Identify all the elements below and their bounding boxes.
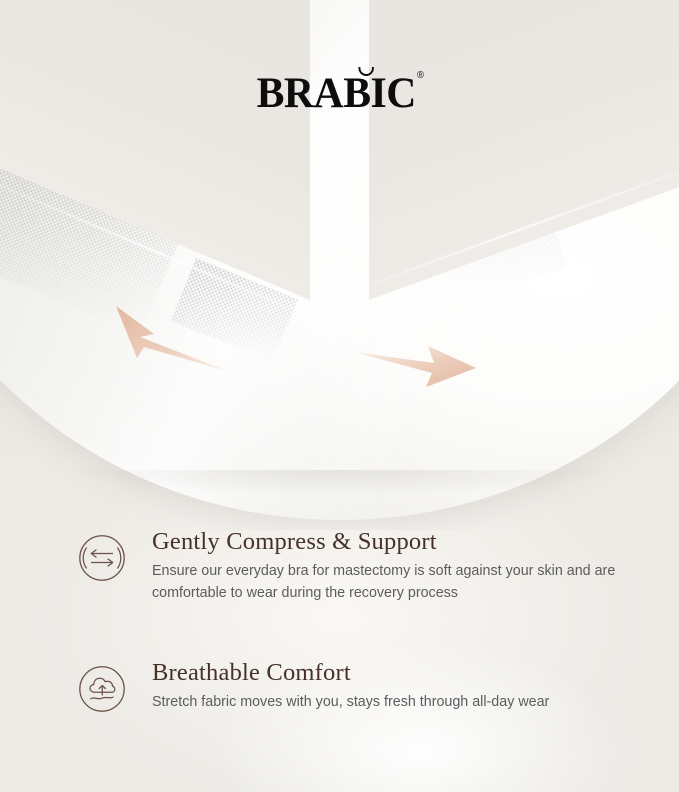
- feature-description: Ensure our everyday bra for mastectomy i…: [152, 561, 622, 604]
- feature-description: Stretch fabric moves with you, stays fre…: [152, 692, 622, 714]
- brand-logo-text: BRABIC®: [256, 72, 422, 115]
- stretch-arrow-right-icon: [352, 330, 482, 390]
- feature-text-compress: Gently Compress & Support Ensure our eve…: [152, 528, 639, 605]
- product-feature-image: BRABIC® Gently Compress & Support Ensure…: [0, 0, 679, 792]
- stretch-arrow-left-icon: [104, 300, 234, 374]
- breathable-cloud-icon: [78, 665, 126, 713]
- compression-arrows-icon: [78, 534, 126, 582]
- feature-item-breathable: Breathable Comfort Stretch fabric moves …: [0, 659, 679, 714]
- feature-text-breathable: Breathable Comfort Stretch fabric moves …: [152, 659, 639, 714]
- feature-title: Gently Compress & Support: [152, 528, 639, 555]
- feature-title: Breathable Comfort: [152, 659, 639, 686]
- fabric-drop-shadow: [0, 470, 679, 530]
- brand-name-part-1: BR: [256, 70, 313, 117]
- registered-trademark-icon: ®: [417, 70, 424, 81]
- feature-list: Gently Compress & Support Ensure our eve…: [0, 528, 679, 714]
- brand-logo: BRABIC®: [0, 72, 679, 115]
- brand-accent-letter: A: [313, 70, 343, 117]
- brand-accent-letter-wrap: A: [313, 70, 343, 117]
- feature-item-compress: Gently Compress & Support Ensure our eve…: [0, 528, 679, 605]
- brand-name-part-2: BIC: [343, 70, 416, 117]
